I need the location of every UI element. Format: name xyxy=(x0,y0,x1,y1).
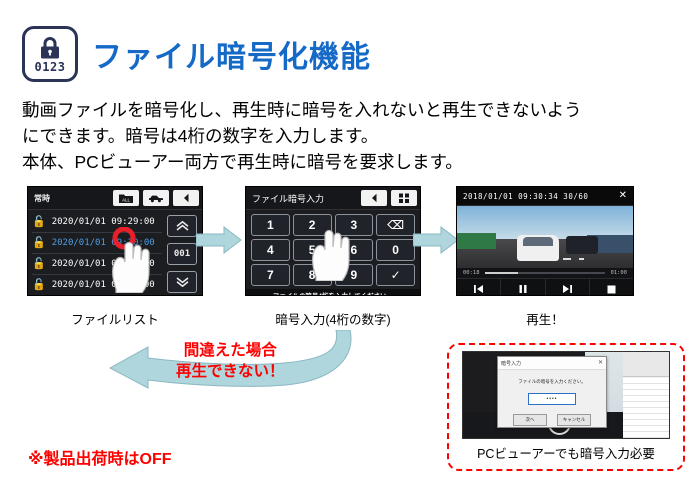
pc-viewer-side-header xyxy=(623,352,669,377)
page-down-button[interactable] xyxy=(167,271,197,293)
page-up-button[interactable] xyxy=(167,215,197,237)
grid-menu-icon[interactable] xyxy=(391,190,417,206)
all-folder-icon[interactable]: ALL xyxy=(113,190,139,206)
keypad-title: ファイル暗号入力 xyxy=(252,192,357,205)
playback-progress[interactable]: 00:18 01:00 xyxy=(457,268,633,278)
touch-hand-cursor xyxy=(104,227,162,296)
unlock-icon: 🔓 xyxy=(32,280,46,291)
back-chevron-icon[interactable] xyxy=(173,190,199,206)
unlock-icon: 🔓 xyxy=(32,259,46,270)
flow-arrow-1-icon xyxy=(196,226,242,254)
password-dialog: 暗号入力 ✕ ファイルの暗号を入力ください。 •••• 次へ キャンセル xyxy=(497,356,607,428)
padlock-badge: 0123 xyxy=(22,26,78,82)
current-time: 00:18 xyxy=(463,270,480,276)
dialog-buttons: 次へ キャンセル xyxy=(498,414,606,426)
close-icon[interactable]: ✕ xyxy=(598,360,603,366)
pc-viewer-side-list xyxy=(623,352,669,438)
ok-button[interactable]: 次へ xyxy=(513,414,547,426)
dialog-titlebar: 暗号入力 ✕ xyxy=(498,357,606,370)
keypad-header: ファイル暗号入力 xyxy=(246,187,420,210)
padlock-icon xyxy=(37,36,63,61)
intro-line-3: 本体、PCビューアー両方で再生時に暗号を要求します。 xyxy=(22,150,662,176)
next-icon[interactable] xyxy=(546,279,590,296)
caption-password-input: 暗号入力(4桁の数字) xyxy=(245,309,421,328)
device-file-list: 常時 ALL 🔓 2020/01/01 09:29:00 🔓 2020/01/0… xyxy=(27,186,203,296)
progress-fill xyxy=(485,272,519,274)
page-title: ファイル暗号化機能 xyxy=(92,32,371,76)
dialog-message: ファイルの暗号を入力ください。 xyxy=(498,379,606,385)
svg-text:ALL: ALL xyxy=(122,197,130,202)
total-time: 01:00 xyxy=(610,270,627,276)
key-4[interactable]: 4 xyxy=(251,239,290,261)
intro-line-2: にできます。暗号は4桁の数字を入力します。 xyxy=(22,124,662,150)
pc-viewer-caption: PCビューアーでも暗号入力必要 xyxy=(477,443,655,462)
device-password-keypad: ファイル暗号入力 1 2 3 ⌫ 4 5 6 0 7 8 9 ✓ ファイルの暗号… xyxy=(245,186,421,296)
pc-viewer-screenshot: ✻ 暗号入力 ✕ ファイルの暗号を入力ください。 •••• 次へ キャンセル xyxy=(462,351,670,439)
pc-viewer-callout: ✻ 暗号入力 ✕ ファイルの暗号を入力ください。 •••• 次へ キャンセル P xyxy=(447,343,685,471)
prev-icon[interactable] xyxy=(457,279,501,296)
key-1[interactable]: 1 xyxy=(251,214,290,236)
touch-hand-cursor xyxy=(304,215,362,286)
device-playback: 2018/01/01 09:30:34 30/60 ✕ 00:18 01:00 xyxy=(456,186,634,296)
unlock-icon: 🔓 xyxy=(32,217,46,228)
file-list-mode-label: 常時 xyxy=(34,193,109,204)
dark-car xyxy=(566,236,598,255)
stop-icon[interactable] xyxy=(590,279,633,296)
flow-panels: 常時 ALL 🔓 2020/01/01 09:29:00 🔓 2020/01/0… xyxy=(0,186,700,331)
intro-paragraph: 動画ファイルを暗号化し、再生時に暗号を入れないと再生できないよう にできます。暗… xyxy=(22,98,662,176)
warning-line-1: 間違えた場合 xyxy=(176,341,285,362)
back-chevron-icon[interactable] xyxy=(361,190,387,206)
playback-controls xyxy=(457,278,633,296)
intro-line-1: 動画ファイルを暗号化し、再生時に暗号を入れないと再生できないよう xyxy=(22,98,662,124)
page-number: 001 xyxy=(167,243,197,265)
playback-timestamp: 2018/01/01 09:30:34 30/60 xyxy=(463,192,613,201)
keypad-hint: ファイルの暗号4桁を入力してください。 xyxy=(246,289,420,296)
unlock-icon: 🔓 xyxy=(32,238,46,249)
key-0[interactable]: 0 xyxy=(376,239,415,261)
confirm-check-icon[interactable]: ✓ xyxy=(376,264,415,286)
file-timestamp: 2020/01/01 09:29:00 xyxy=(52,217,155,227)
flow-arrow-2-icon xyxy=(413,226,459,254)
playback-header: 2018/01/01 09:30:34 30/60 ✕ xyxy=(457,187,633,206)
pc-viewer-side-rows xyxy=(623,378,669,438)
close-icon[interactable]: ✕ xyxy=(619,191,627,201)
cancel-button[interactable]: キャンセル xyxy=(557,414,591,426)
car-icon[interactable] xyxy=(143,190,169,206)
file-list-header: 常時 ALL xyxy=(28,187,202,210)
white-car xyxy=(517,235,559,261)
warning-text: 間違えた場合 再生できない！ xyxy=(176,341,285,383)
password-field[interactable]: •••• xyxy=(528,393,576,405)
badge-digits: 0123 xyxy=(35,61,66,73)
video-frame xyxy=(457,206,633,268)
roadside-green xyxy=(457,233,496,249)
key-7[interactable]: 7 xyxy=(251,264,290,286)
pause-icon[interactable] xyxy=(501,279,545,296)
page-header: 0123 ファイル暗号化機能 xyxy=(22,26,371,82)
password-field-value: •••• xyxy=(546,396,557,402)
progress-track[interactable] xyxy=(485,272,606,274)
dialog-title: 暗号入力 xyxy=(501,360,596,367)
warning-line-2: 再生できない！ xyxy=(176,362,285,383)
caption-file-list: ファイルリスト xyxy=(27,309,203,328)
pc-viewer-main-area: ✻ 暗号入力 ✕ ファイルの暗号を入力ください。 •••• 次へ キャンセル xyxy=(463,352,623,438)
caption-playback: 再生！ xyxy=(456,309,634,328)
shipping-default-note: ※製品出荷時はOFF xyxy=(28,445,172,469)
backspace-icon[interactable]: ⌫ xyxy=(376,214,415,236)
